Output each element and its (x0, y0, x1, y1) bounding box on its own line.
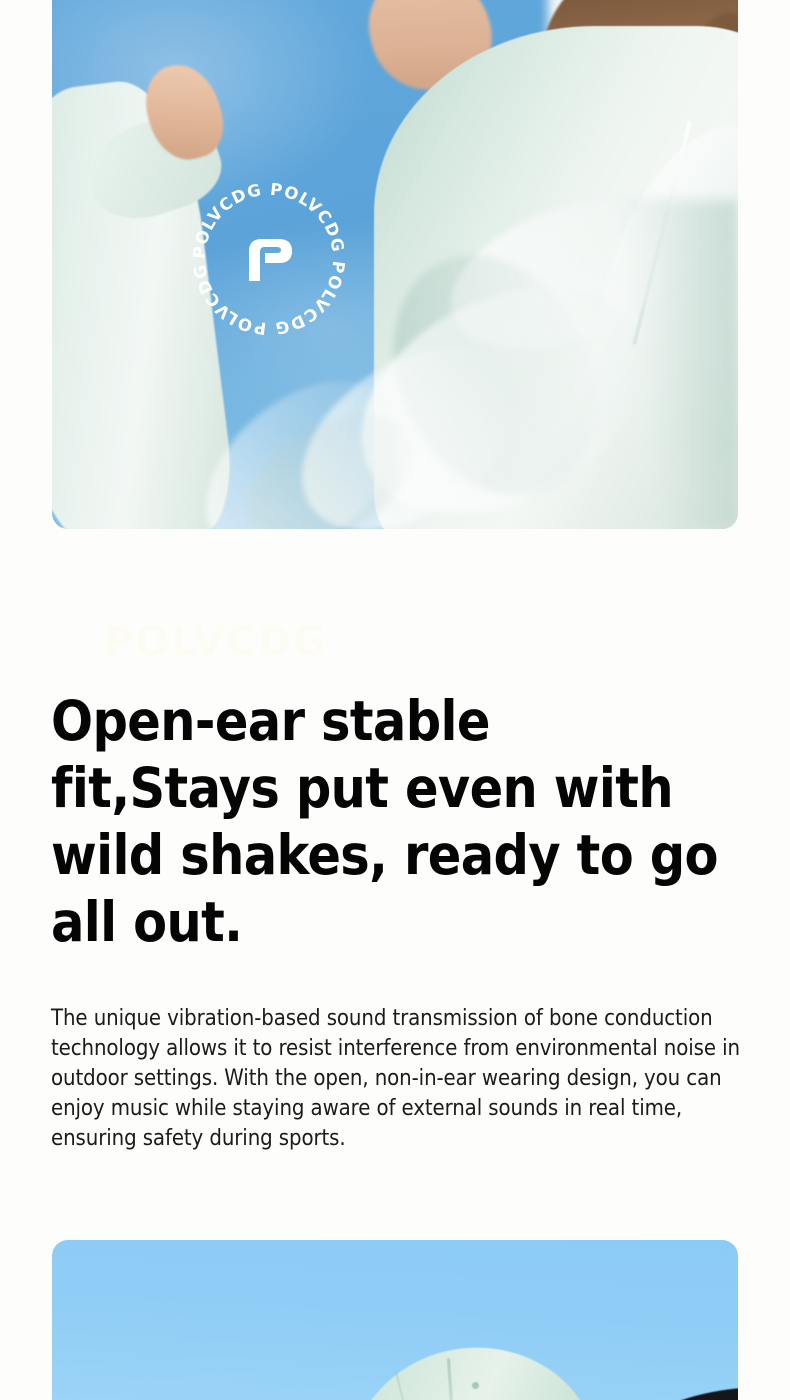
brand-watermark: POLVCDG POLVCDG POLVCDG POLVCDG (186, 176, 352, 342)
product-detail-page: POLVCDG POLVCDG POLVCDG POLVCDG POLVCDG … (0, 0, 790, 1400)
baseball-cap (337, 1334, 606, 1400)
polvcdg-p-logo-icon (231, 221, 307, 297)
page-title: Open-ear stable fit,Stays put even with … (51, 688, 731, 956)
copy-block: Open-ear stable fit,Stays put even with … (51, 688, 741, 956)
tennis-racket (552, 1361, 738, 1400)
hero-product-image[interactable]: POLVCDG POLVCDG POLVCDG POLVCDG (52, 0, 738, 529)
body-paragraph: The unique vibration-based sound transmi… (51, 1004, 741, 1154)
secondary-product-image[interactable] (52, 1240, 738, 1400)
faint-background-watermark: POLVCDG (104, 616, 444, 668)
cap-button (472, 1382, 479, 1389)
